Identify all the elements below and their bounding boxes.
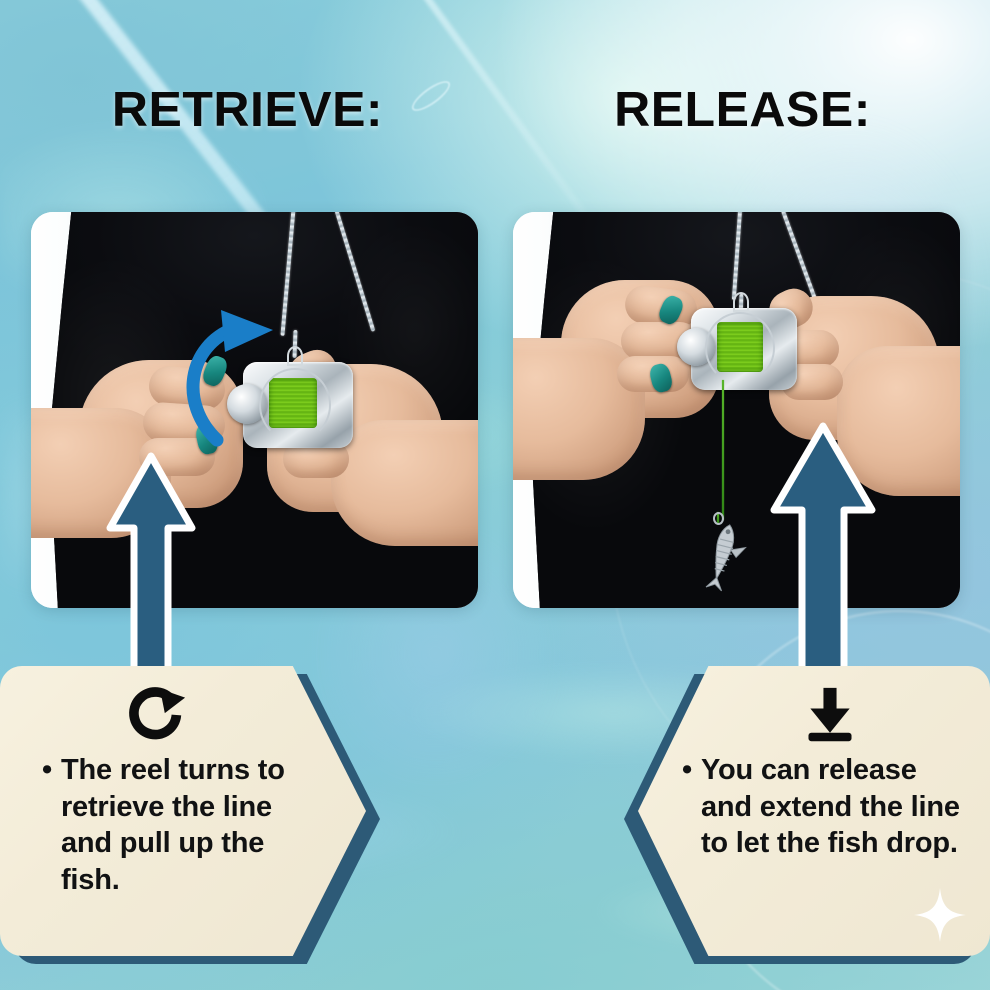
heading-release: RELEASE: xyxy=(490,86,990,156)
pointer-arrow-retrieve-icon xyxy=(106,452,196,702)
callout-text-release: • You can release and extend the line to… xyxy=(682,752,972,862)
headings-row: RETRIEVE: RELEASE: xyxy=(0,86,990,156)
download-arrow-icon xyxy=(801,684,859,746)
rotation-arrow-icon xyxy=(181,308,311,448)
callout-bullet: • xyxy=(42,752,52,789)
reel-frame-arc xyxy=(705,312,775,384)
callout-text-retrieve: • The reel turns to retrieve the line an… xyxy=(42,752,304,898)
right-forearm xyxy=(331,420,478,546)
photo-release xyxy=(513,212,960,608)
callout-retrieve: • The reel turns to retrieve the line an… xyxy=(0,666,366,956)
extended-fishing-line xyxy=(722,380,724,520)
sparkle-icon xyxy=(914,888,966,942)
reel-bail-ring xyxy=(733,292,749,312)
charm-jump-ring-icon xyxy=(713,512,724,525)
callout-release: • You can release and extend the line to… xyxy=(638,666,990,956)
reel-pendant xyxy=(691,308,797,390)
photo-panel-release xyxy=(513,212,960,608)
callout-body-text: The reel turns to retrieve the line and … xyxy=(61,752,304,898)
rotate-clockwise-icon xyxy=(128,684,190,746)
callout-bullet: • xyxy=(682,752,692,789)
photo-retrieve xyxy=(31,212,478,608)
photo-panel-retrieve xyxy=(31,212,478,608)
fish-skeleton-charm xyxy=(696,520,748,592)
callout-body-text: You can release and extend the line to l… xyxy=(701,752,972,862)
heading-retrieve: RETRIEVE: xyxy=(0,86,500,156)
